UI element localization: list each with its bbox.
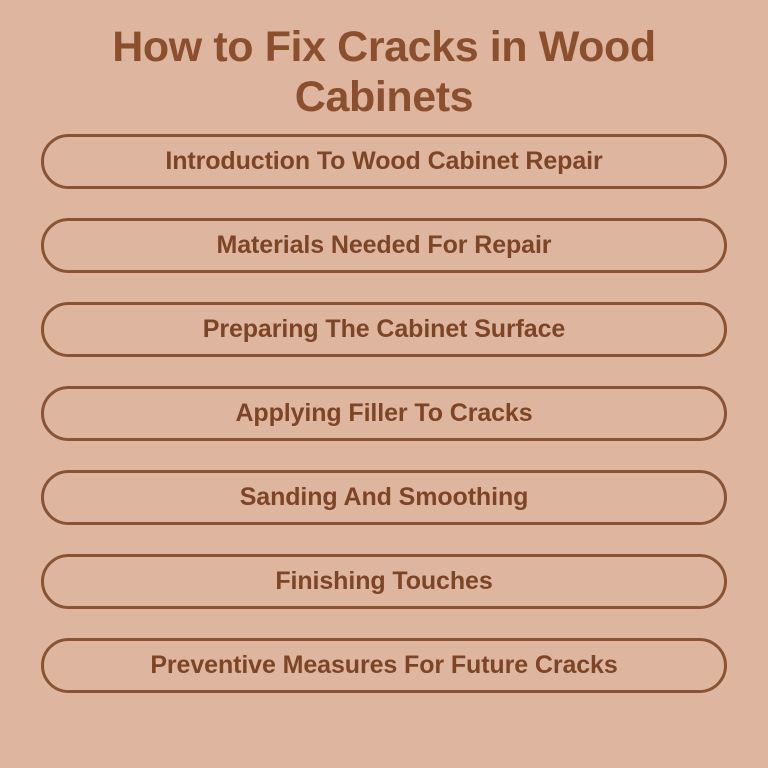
toc-item-label: Materials Needed For Repair: [217, 232, 552, 259]
toc-item-introduction-to-wood-cabinet-repair[interactable]: Introduction To Wood Cabinet Repair: [41, 134, 727, 189]
toc-item-applying-filler-to-cracks[interactable]: Applying Filler To Cracks: [41, 386, 727, 441]
toc-item-label: Finishing Touches: [275, 568, 492, 595]
toc-item-sanding-and-smoothing[interactable]: Sanding And Smoothing: [41, 470, 727, 525]
toc-item-label: Sanding And Smoothing: [240, 484, 529, 511]
toc-item-materials-needed-for-repair[interactable]: Materials Needed For Repair: [41, 218, 727, 273]
article-outline-page: How to Fix Cracks in Wood Cabinets Intro…: [0, 0, 768, 768]
toc-item-finishing-touches[interactable]: Finishing Touches: [41, 554, 727, 609]
page-title: How to Fix Cracks in Wood Cabinets: [64, 0, 704, 122]
toc-item-label: Preventive Measures For Future Cracks: [150, 652, 617, 679]
toc-item-label: Applying Filler To Cracks: [235, 400, 532, 427]
toc-item-preventive-measures-for-future-cracks[interactable]: Preventive Measures For Future Cracks: [41, 638, 727, 693]
toc-item-preparing-the-cabinet-surface[interactable]: Preparing The Cabinet Surface: [41, 302, 727, 357]
toc-item-label: Preparing The Cabinet Surface: [203, 316, 565, 343]
table-of-contents: Introduction To Wood Cabinet Repair Mate…: [0, 134, 768, 722]
toc-item-label: Introduction To Wood Cabinet Repair: [165, 148, 602, 175]
